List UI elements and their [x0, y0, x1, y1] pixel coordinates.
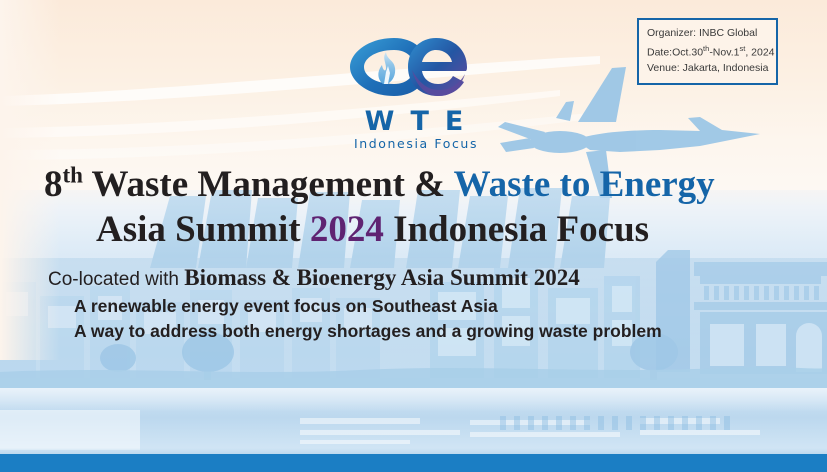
organizer-value: INBC Global	[699, 27, 757, 39]
date-separator: -Nov.1	[709, 47, 739, 59]
title-block: 8th Waste Management & Waste to Energy A…	[0, 162, 827, 252]
colocated-event: Biomass & Bioenergy Asia Summit 2024	[184, 265, 579, 290]
date-year: , 2024	[745, 47, 774, 59]
subtitle-block: Co-located with Biomass & Bioenergy Asia…	[0, 264, 827, 344]
title-line2-text: Asia Summit	[96, 209, 301, 250]
venue-value: Jakarta, Indonesia	[683, 62, 769, 74]
edition-ordinal: th	[63, 163, 83, 188]
title-year: 2024	[310, 209, 384, 250]
title-line-2: Asia Summit 2024 Indonesia Focus	[0, 207, 827, 252]
title-line2-suffix: Indonesia Focus	[393, 209, 649, 250]
date-day1: Oct.30	[672, 47, 703, 59]
wte-infinity-flame-logo	[340, 26, 490, 108]
edition-number: 8	[44, 164, 63, 205]
logo-c-loop	[350, 38, 418, 96]
bottom-accent-bar	[0, 454, 827, 472]
tagline-1: A renewable energy event focus on Southe…	[0, 294, 827, 319]
event-banner: Organizer: INBC Global Date:Oct.30th-Nov…	[0, 0, 827, 472]
date-line: Date:Oct.30th-Nov.1st, 2024	[647, 41, 768, 61]
title-line-1: 8th Waste Management & Waste to Energy	[0, 162, 827, 207]
colocated-line: Co-located with Biomass & Bioenergy Asia…	[0, 264, 827, 294]
logo-acronym: WTE	[344, 108, 500, 136]
colocated-prefix: Co-located with	[48, 269, 179, 290]
venue-label: Venue:	[647, 62, 680, 74]
organizer-line: Organizer: INBC Global	[647, 26, 768, 41]
logo-tagline: Indonesia Focus	[332, 136, 500, 152]
title-line1-highlight: Waste to Energy	[454, 164, 715, 205]
organizer-label: Organizer:	[647, 27, 696, 39]
wte-logo: WTE Indonesia Focus	[330, 26, 500, 152]
tagline-2: A way to address both energy shortages a…	[0, 319, 827, 344]
logo-e-loop	[408, 38, 467, 96]
water-reflection	[0, 388, 827, 454]
title-line1-text: Waste Management &	[92, 164, 446, 205]
venue-line: Venue: Jakarta, Indonesia	[647, 61, 768, 76]
event-info-box: Organizer: INBC Global Date:Oct.30th-Nov…	[637, 18, 778, 85]
date-label: Date:	[647, 47, 672, 59]
